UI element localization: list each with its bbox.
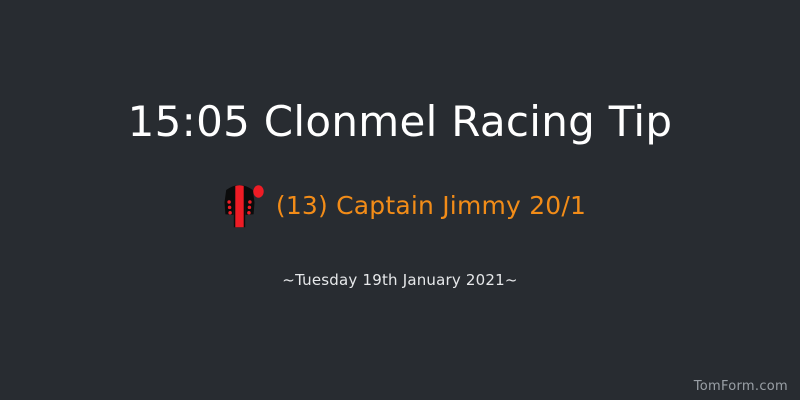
page-title: 15:05 Clonmel Racing Tip [128, 99, 673, 145]
footer: TomForm.com [694, 375, 788, 394]
site-watermark: TomForm.com [694, 379, 788, 394]
page-title-row: 15:05 Clonmel Racing Tip [0, 99, 800, 145]
racing-tip-card: 15:05 Clonmel Racing Tip (13) Captain J [0, 0, 800, 400]
jockey-silk-icon [214, 182, 266, 230]
tip-selection-text: (13) Captain Jimmy 20/1 [276, 192, 586, 220]
race-date-row: ~Tuesday 19th January 2021~ [0, 270, 800, 289]
tip-row: (13) Captain Jimmy 20/1 [0, 182, 800, 230]
race-date: ~Tuesday 19th January 2021~ [282, 271, 517, 289]
